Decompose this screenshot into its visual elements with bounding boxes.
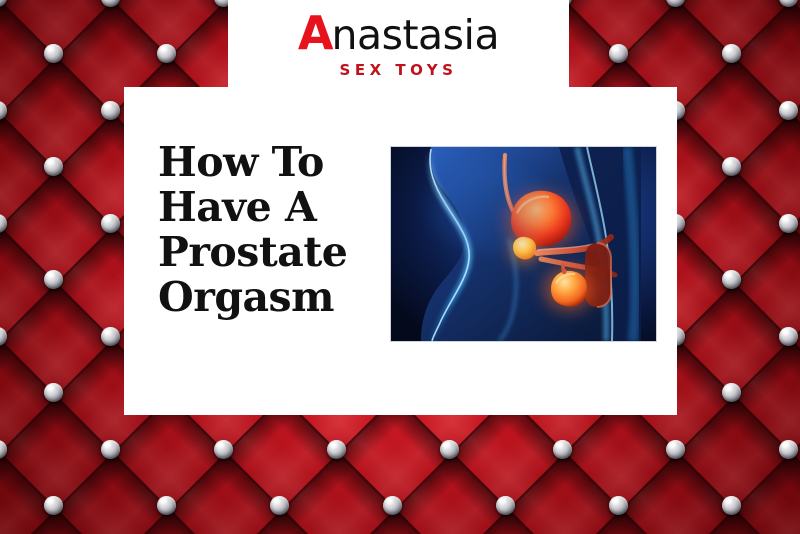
leather-tuft-button bbox=[157, 496, 176, 515]
brand-logo-initial: A bbox=[298, 6, 332, 60]
leather-tuft-button bbox=[722, 496, 741, 515]
leather-tuft-button bbox=[609, 496, 628, 515]
leather-tuft-button bbox=[553, 440, 572, 459]
leather-tuft-button bbox=[101, 101, 120, 120]
leather-tuft-button bbox=[779, 0, 798, 7]
headline-line-2: Have A bbox=[158, 183, 316, 231]
logo-band: Anastasia SEX TOYS bbox=[228, 0, 569, 88]
prostate-anatomy-image bbox=[390, 146, 657, 342]
leather-tuft-button bbox=[0, 0, 7, 7]
headline-line-3: Prostate bbox=[158, 228, 347, 276]
leather-tuft-button bbox=[44, 383, 63, 402]
leather-tuft-button bbox=[779, 101, 798, 120]
headline-column: How To Have A Prostate Orgasm bbox=[124, 87, 390, 415]
leather-tuft-button bbox=[440, 440, 459, 459]
leather-tuft-button bbox=[0, 101, 7, 120]
leather-tuft-button bbox=[609, 44, 628, 63]
illustration-column bbox=[390, 87, 677, 415]
leather-tuft-button bbox=[722, 270, 741, 289]
brand-logo-rest: nastasia bbox=[332, 11, 500, 59]
brand-logo-tagline: SEX TOYS bbox=[340, 61, 458, 79]
leather-tuft-button bbox=[44, 44, 63, 63]
content-card: How To Have A Prostate Orgasm bbox=[124, 87, 677, 415]
poster-canvas: Anastasia SEX TOYS How To Have A Prostat… bbox=[0, 0, 800, 534]
leather-tuft-button bbox=[101, 440, 120, 459]
leather-tuft-button bbox=[214, 440, 233, 459]
leather-tuft-button bbox=[44, 496, 63, 515]
leather-tuft-button bbox=[779, 214, 798, 233]
leather-tuft-button bbox=[0, 327, 7, 346]
leather-tuft-button bbox=[101, 0, 120, 7]
leather-tuft-button bbox=[383, 496, 402, 515]
leather-tuft-button bbox=[0, 214, 7, 233]
brand-logo-wordmark: Anastasia bbox=[298, 10, 499, 56]
content-card-inner: How To Have A Prostate Orgasm bbox=[124, 87, 677, 415]
leather-tuft-button bbox=[722, 157, 741, 176]
headline-line-1: How To bbox=[158, 138, 324, 186]
leather-tuft-button bbox=[666, 440, 685, 459]
leather-tuft-button bbox=[722, 44, 741, 63]
leather-tuft-button bbox=[722, 383, 741, 402]
leather-tuft-button bbox=[157, 44, 176, 63]
leather-tuft-button bbox=[779, 327, 798, 346]
headline-line-4: Orgasm bbox=[158, 273, 334, 321]
leather-tuft-button bbox=[44, 157, 63, 176]
leather-tuft-button bbox=[0, 440, 7, 459]
leather-tuft-button bbox=[44, 270, 63, 289]
leather-tuft-button bbox=[666, 0, 685, 7]
leather-tuft-button bbox=[496, 496, 515, 515]
leather-tuft-button bbox=[779, 440, 798, 459]
page-title: How To Have A Prostate Orgasm bbox=[158, 140, 390, 320]
leather-tuft-button bbox=[101, 327, 120, 346]
leather-tuft-button bbox=[270, 496, 289, 515]
leather-tuft-button bbox=[101, 214, 120, 233]
leather-tuft-button bbox=[327, 440, 346, 459]
